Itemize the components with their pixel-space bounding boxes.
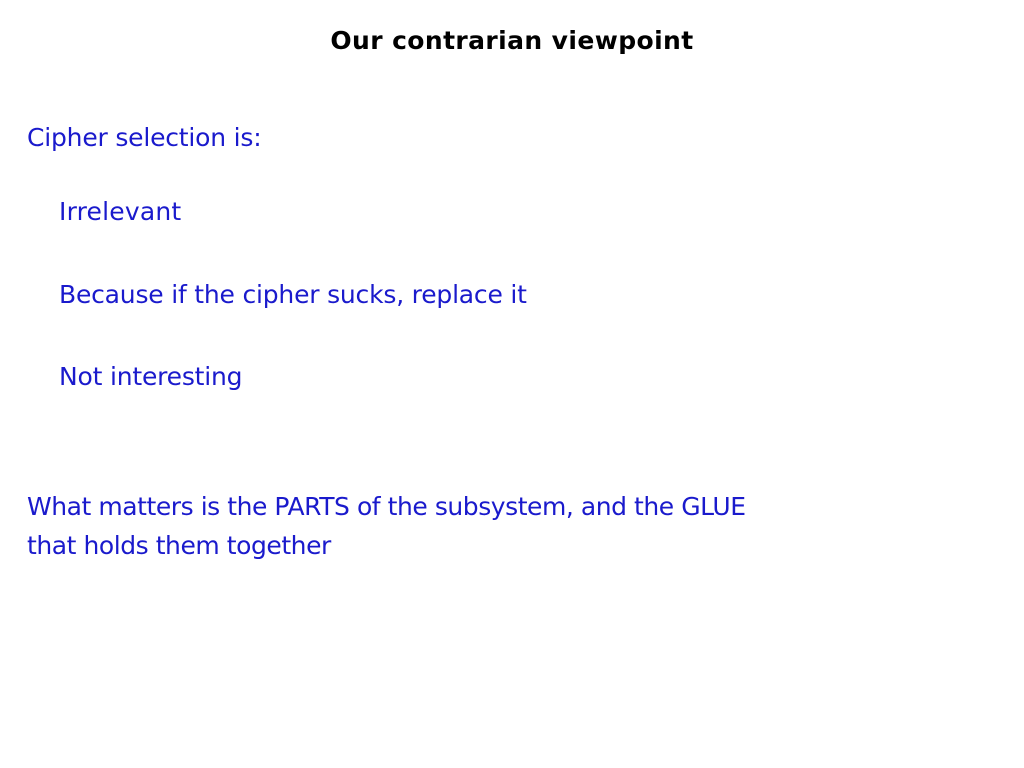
bullet-item-not-interesting: Not interesting — [59, 361, 242, 393]
slide-body: Cipher selection is: Irrelevant Because … — [0, 0, 1024, 768]
closing-paragraph-line-1: What matters is the PARTS of the subsyst… — [27, 487, 887, 526]
bullet-lead-in: Cipher selection is: — [27, 122, 261, 154]
presentation-slide: Our contrarian viewpoint Cipher selectio… — [0, 0, 1024, 768]
closing-paragraph: What matters is the PARTS of the subsyst… — [27, 487, 887, 565]
bullet-item-because: Because if the cipher sucks, replace it — [59, 279, 527, 311]
bullet-item-irrelevant: Irrelevant — [59, 196, 181, 228]
closing-paragraph-line-2: that holds them together — [27, 526, 887, 565]
